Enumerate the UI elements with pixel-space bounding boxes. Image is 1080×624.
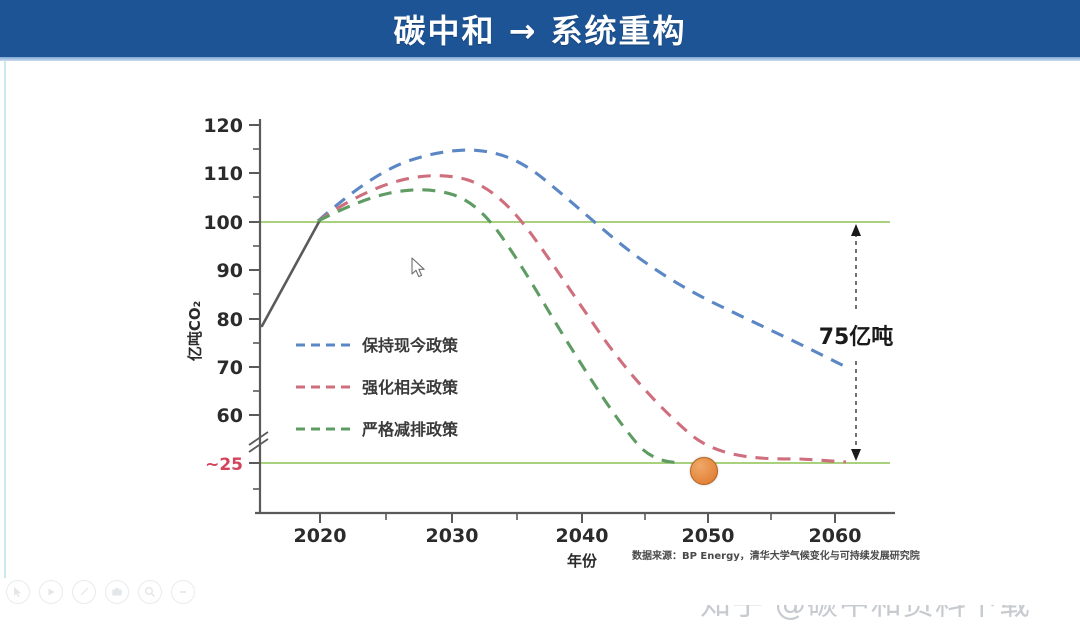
emissions-chart: 120 110 100 90 80 70 60 ~25 亿吨CO₂	[0, 61, 1080, 605]
y-tick-label: 80	[217, 309, 243, 331]
slide-root: 碳中和 → 系统重构	[0, 0, 1080, 605]
cursor-icon[interactable]	[6, 580, 30, 604]
mouse-cursor	[411, 257, 429, 279]
x-tick-label: 2050	[682, 525, 735, 547]
gap-annotation: 75亿吨	[819, 224, 894, 461]
slide-title-bar: 碳中和 → 系统重构	[0, 0, 1080, 57]
pen-icon[interactable]	[72, 580, 96, 604]
arrow-head-down	[851, 449, 861, 461]
arrow-head-up	[851, 224, 861, 236]
x-tick-label: 2040	[556, 525, 609, 547]
legend-label: 强化相关政策	[362, 378, 459, 397]
legend-label: 保持现今政策	[361, 336, 459, 355]
slide-body: 120 110 100 90 80 70 60 ~25 亿吨CO₂	[0, 61, 1080, 605]
y-tick-label: 120	[203, 115, 243, 137]
history-line	[262, 220, 320, 326]
page-title: 碳中和 → 系统重构	[393, 6, 686, 52]
x-tick-label: 2020	[294, 525, 347, 547]
bottom-toolbar	[0, 578, 1080, 605]
chart-legend: 保持现今政策 强化相关政策 严格减排政策	[296, 336, 459, 439]
axis-break-mark	[249, 432, 268, 452]
legend-label: 严格减排政策	[361, 420, 459, 439]
y-tick-label: 100	[203, 212, 243, 234]
camera-icon[interactable]	[105, 580, 129, 604]
y-tick-label: 90	[217, 260, 243, 282]
minus-icon[interactable]	[171, 580, 195, 604]
y-tick-label-break: ~25	[205, 455, 243, 475]
zoom-icon[interactable]	[138, 580, 162, 604]
x-tick-label: 2060	[809, 525, 862, 547]
gap-annotation-label: 75亿吨	[819, 325, 894, 350]
y-tick-label: 60	[217, 405, 243, 427]
y-tick-label: 70	[217, 357, 243, 379]
x-tick-label: 2030	[426, 525, 479, 547]
y-tick-label: 110	[203, 163, 243, 185]
highlight-point-marker[interactable]	[690, 457, 718, 485]
y-axis-title: 亿吨CO₂	[186, 301, 204, 361]
source-note: 数据来源：BP Energy，清华大学气候变化与可持续发展研究院	[632, 549, 920, 562]
x-axis-title: 年份	[567, 552, 598, 570]
play-icon[interactable]	[39, 580, 63, 604]
